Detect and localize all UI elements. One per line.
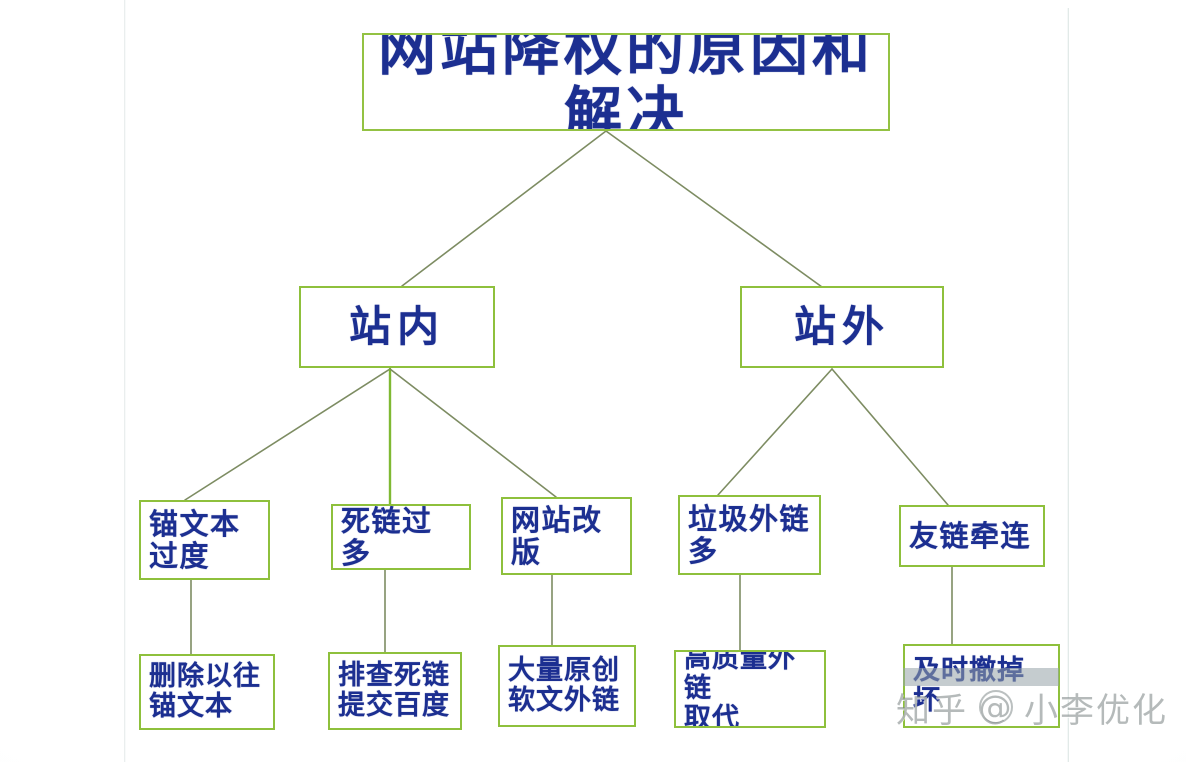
connector-inside-to-revamp — [390, 369, 556, 497]
node-many-spam-backlinks[interactable]: 垃圾外链 多 — [678, 495, 821, 575]
node-too-many-dead-links-label: 死链过多 — [333, 505, 469, 570]
node-promptly-remove-bad-links-label: 及时撤掉坏 — [905, 656, 1058, 716]
node-promptly-remove-bad-links[interactable]: 及时撤掉坏 — [903, 644, 1060, 728]
node-many-original-soft-article-backlinks-label: 大量原创 软文外链 — [500, 656, 634, 716]
node-replace-with-high-quality-backlinks-label: 高质量外链 取代 — [676, 650, 824, 728]
node-delete-past-anchor-text-label: 删除以往 锚文本 — [141, 662, 273, 722]
node-website-redesign[interactable]: 网站改 版 — [501, 497, 632, 575]
node-many-spam-backlinks-label: 垃圾外链 多 — [680, 503, 819, 568]
paper-edge-right — [1067, 8, 1069, 762]
node-outside-label: 站外 — [742, 303, 942, 350]
node-friend-link-implication[interactable]: 友链牵连 — [899, 505, 1045, 567]
node-root[interactable]: 网站降权的原因和解决 — [362, 33, 890, 131]
connector-outside-to-friend — [832, 369, 948, 505]
node-anchor-text-excess[interactable]: 锚文本 过度 — [139, 500, 270, 580]
node-replace-with-high-quality-backlinks[interactable]: 高质量外链 取代 — [674, 650, 826, 728]
node-outside[interactable]: 站外 — [740, 286, 944, 368]
mindmap-canvas: 网站降权的原因和解决 站内 站外 锚文本 过度 死链过多 网站改 版 垃圾外链 … — [0, 0, 1186, 762]
node-delete-past-anchor-text[interactable]: 删除以往 锚文本 — [139, 654, 275, 730]
paper-edge-left — [124, 0, 126, 762]
connector-root-to-inside — [402, 131, 606, 286]
connector-inside-to-anchor — [185, 369, 390, 500]
node-check-dead-links-submit-baidu-label: 排查死链 提交百度 — [330, 661, 460, 721]
node-too-many-dead-links[interactable]: 死链过多 — [331, 504, 471, 570]
node-friend-link-implication-label: 友链牵连 — [901, 520, 1043, 552]
node-inside-label: 站内 — [301, 303, 493, 350]
node-anchor-text-excess-label: 锚文本 过度 — [141, 508, 268, 573]
node-root-label: 网站降权的原因和解决 — [364, 33, 888, 131]
node-inside[interactable]: 站内 — [299, 286, 495, 368]
node-website-redesign-label: 网站改 版 — [503, 504, 630, 569]
connector-outside-to-spam — [718, 369, 832, 495]
node-many-original-soft-article-backlinks[interactable]: 大量原创 软文外链 — [498, 645, 636, 727]
node-check-dead-links-submit-baidu[interactable]: 排查死链 提交百度 — [328, 652, 462, 730]
connector-root-to-outside — [606, 131, 822, 287]
